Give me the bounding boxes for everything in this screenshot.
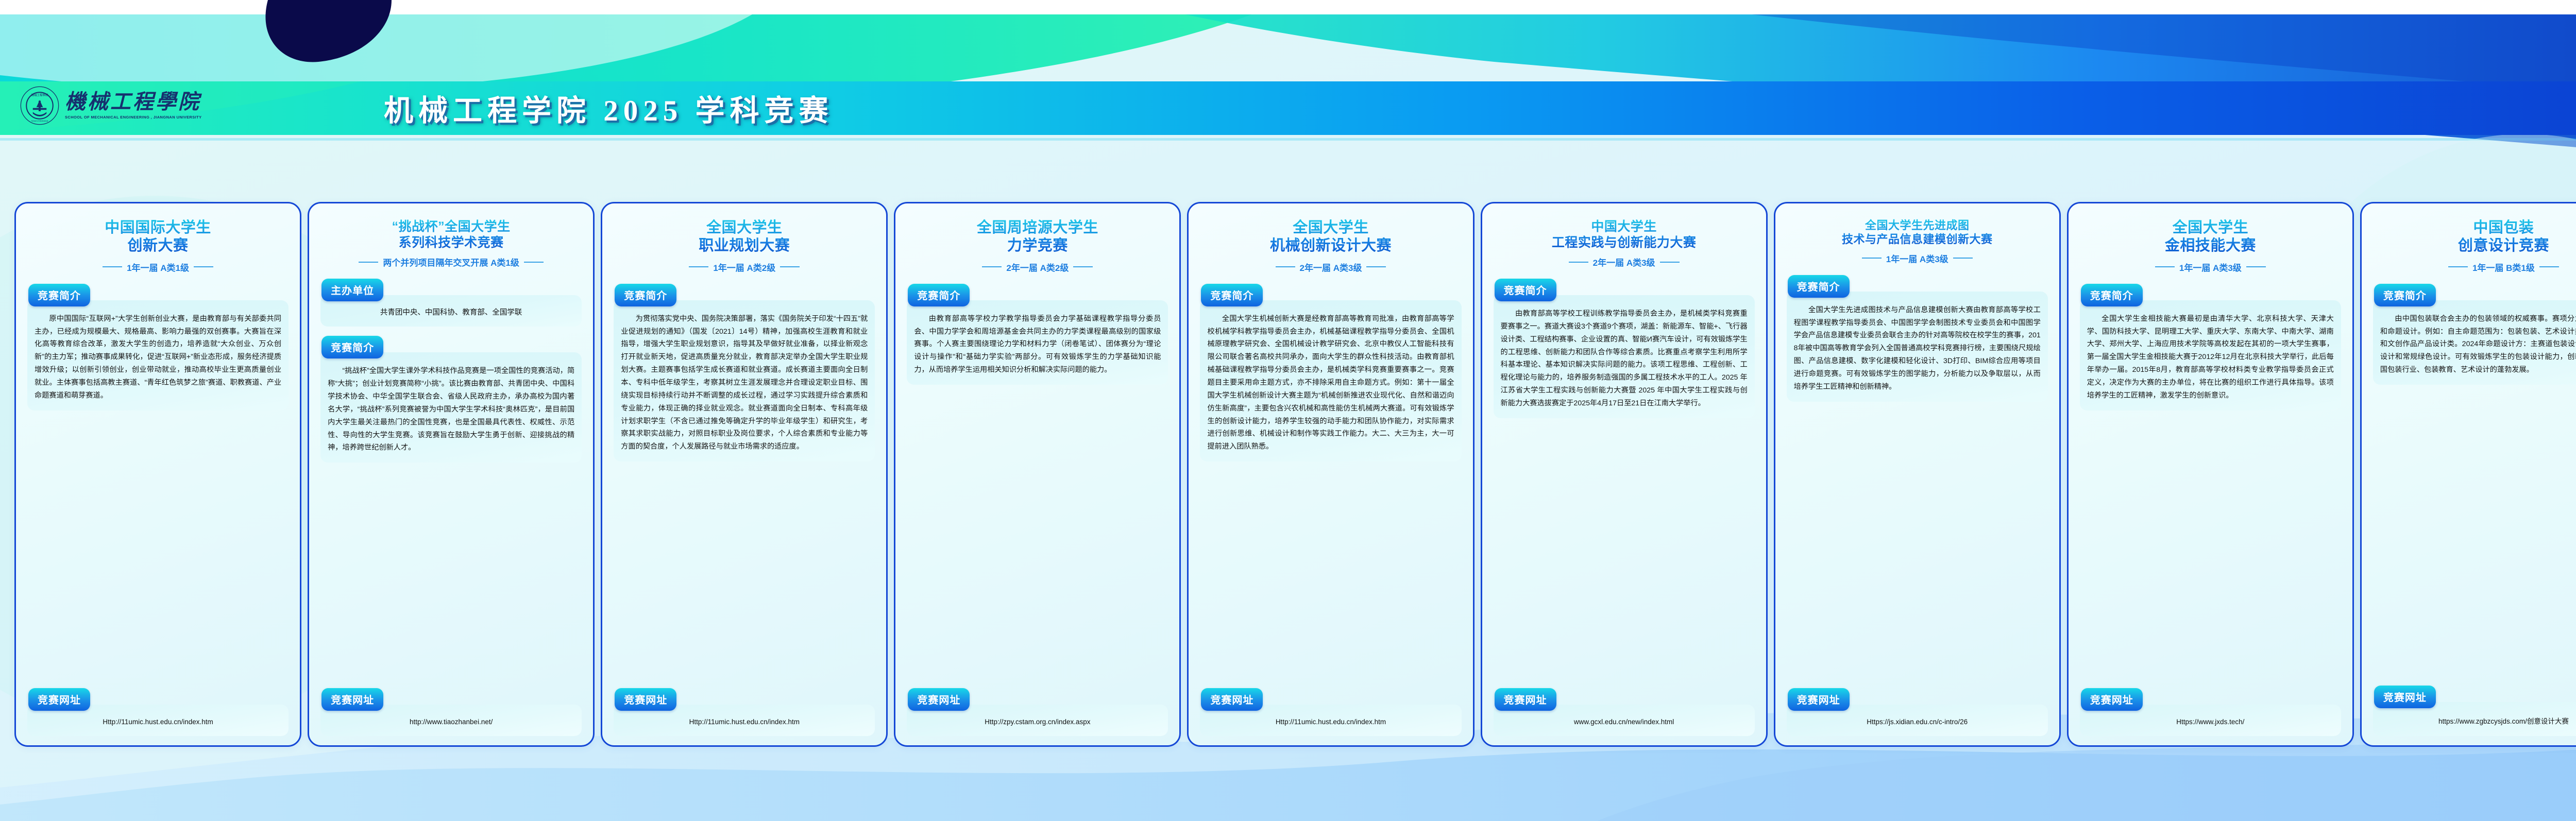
- meta-rule-right: [194, 266, 213, 267]
- meta-rule-left: [1862, 258, 1882, 259]
- competition-name: 全国大学生职业规划大赛: [614, 219, 875, 255]
- meta-rule-right: [780, 266, 800, 267]
- competition-card-list: 中国国际大学生创新大赛1年一届 A类1级竞赛简介原中国国际“互联网+”大学生创新…: [0, 202, 2576, 747]
- competition-card[interactable]: 中国国际大学生创新大赛1年一届 A类1级竞赛简介原中国国际“互联网+”大学生创新…: [14, 202, 301, 747]
- card-spacer: [907, 385, 1168, 688]
- intro-label: 竞赛简介: [321, 336, 383, 358]
- competition-name: 中国国际大学生创新大赛: [27, 219, 289, 255]
- logo-english-name: SCHOOL OF MECHANICAL ENGINEERING , JIANG…: [65, 115, 202, 119]
- intro-text: 由教育部高等学校力学教学指导委员会力学基础课程教学指导分委员会、中国力学学会和周…: [907, 300, 1168, 385]
- intro-label: 竞赛简介: [1495, 279, 1556, 301]
- competition-card[interactable]: 中国包装创意设计竞赛1年一届 B类1级竞赛简介由中国包装联合会主办的包装领域的权…: [2360, 202, 2576, 747]
- url-block: 竞赛网址http://www.tiaozhanbei.net/: [320, 688, 582, 736]
- host-label: 主办单位: [321, 279, 383, 301]
- card-spacer: [1787, 402, 2048, 688]
- intro-text: “挑战杯”全国大学生课外学术科技作品竞赛是一项全国性的竞赛活动，简称“大挑”；创…: [320, 352, 582, 463]
- url-block: 竞赛网址https://www.zgbzcysjds.com/创意设计大赛: [2373, 686, 2576, 736]
- competition-name: 中国包装创意设计竞赛: [2373, 219, 2576, 255]
- intro-label: 竞赛简介: [2374, 284, 2436, 306]
- intro-label: 竞赛简介: [28, 284, 90, 306]
- url-label: 竞赛网址: [321, 688, 383, 711]
- intro-text: 全国大学生先进成图技术与产品信息建模创新大赛由教育部高等学校工程图学课程教学指导…: [1787, 292, 2048, 402]
- meta-text: 1年一届 A类2级: [713, 261, 775, 273]
- competition-meta: 1年一届 B类1级: [2373, 261, 2576, 273]
- card-spacer: [27, 410, 289, 688]
- meta-rule-left: [689, 266, 708, 267]
- competition-card[interactable]: 全国大学生机械创新设计大赛2年一届 A类3级竞赛简介全国大学生机械创新大赛是经教…: [1187, 202, 1474, 747]
- url-block: 竞赛网址www.gcxl.edu.cn/new/index.html: [1494, 688, 1755, 736]
- university-emblem-icon: 機械工程學院 School of Mechanical: [20, 85, 60, 126]
- card-spacer: [2373, 385, 2576, 686]
- card-spacer: [614, 461, 875, 688]
- competition-card[interactable]: “挑战杯”全国大学生系列科技学术竞赛两个并列项目隔年交叉开展 A类1级主办单位共…: [308, 202, 595, 747]
- intro-text: 全国大学生金相技能大赛最初是由清华大学、北京科技大学、天津大学、国防科技大学、昆…: [2080, 300, 2341, 410]
- meta-rule-left: [2155, 266, 2175, 267]
- page-title: 机械工程学院 2025 学科竞赛: [384, 87, 834, 129]
- competition-name: 全国周培源大学生力学竞赛: [907, 219, 1168, 255]
- competition-card[interactable]: 全国周培源大学生力学竞赛2年一届 A类2级竞赛简介由教育部高等学校力学教学指导委…: [894, 202, 1181, 747]
- url-block: 竞赛网址Http://zpy.cstam.org.cn/index.aspx: [907, 688, 1168, 736]
- competition-meta: 2年一届 A类3级: [1494, 255, 1755, 268]
- meta-rule-left: [359, 262, 378, 263]
- meta-rule-right: [1660, 262, 1680, 263]
- competition-card[interactable]: 全国大学生先进成图技术与产品信息建模创新大赛1年一届 A类3级竞赛简介全国大学生…: [1774, 202, 2061, 747]
- intro-label: 竞赛简介: [615, 284, 676, 306]
- meta-rule-right: [2539, 266, 2559, 267]
- meta-text: 1年一届 B类1级: [2472, 261, 2535, 273]
- meta-text: 2年一届 A类3级: [1300, 261, 1362, 273]
- school-logo: 機械工程學院 School of Mechanical 機械工程學院 SCHOO…: [20, 85, 202, 126]
- intro-text: 全国大学生机械创新大赛是经教育部高等教育司批准，由教育部高等学校机械学科教学指导…: [1200, 300, 1461, 461]
- competition-meta: 1年一届 A类2级: [614, 261, 875, 273]
- svg-text:School of Mechanical: School of Mechanical: [31, 120, 48, 122]
- competition-name: “挑战杯”全国大学生系列科技学术竞赛: [320, 219, 582, 250]
- competition-name: 全国大学生先进成图技术与产品信息建模创新大赛: [1787, 219, 2048, 247]
- meta-text: 1年一届 A类1级: [127, 261, 189, 273]
- meta-text: 2年一届 A类3级: [1593, 255, 1655, 268]
- intro-label: 竞赛简介: [908, 284, 970, 306]
- competition-name: 全国大学生金相技能大赛: [2080, 219, 2341, 255]
- url-label: 竞赛网址: [908, 688, 970, 711]
- competition-card[interactable]: 中国大学生工程实践与创新能力大赛2年一届 A类3级竞赛简介由教育部高等学校工程训…: [1481, 202, 1768, 747]
- url-block: 竞赛网址Http://11umic.hust.edu.cn/index.htm: [27, 688, 289, 736]
- url-label: 竞赛网址: [1788, 688, 1850, 711]
- competition-name: 全国大学生机械创新设计大赛: [1200, 219, 1461, 255]
- card-spacer: [1494, 418, 1755, 688]
- meta-text: 1年一届 A类3级: [2179, 261, 2242, 273]
- intro-text: 为贯彻落实党中央、国务院决策部署，落实《国务院关于印发“十四五”就业促进规划的通…: [614, 300, 875, 461]
- intro-label: 竞赛简介: [1788, 275, 1850, 298]
- meta-rule-right: [2246, 266, 2266, 267]
- url-label: 竞赛网址: [2374, 686, 2436, 708]
- competition-meta: 1年一届 A类3级: [2080, 261, 2341, 273]
- url-label: 竞赛网址: [28, 688, 90, 711]
- competition-card[interactable]: 全国大学生金相技能大赛1年一届 A类3级竞赛简介全国大学生金相技能大赛最初是由清…: [2067, 202, 2354, 747]
- competition-meta: 2年一届 A类3级: [1200, 261, 1461, 273]
- meta-rule-left: [103, 266, 122, 267]
- intro-text: 由中国包装联合会主办的包装领域的权威赛事。赛项分为自主命题设计和命题设计。例如：…: [2373, 300, 2576, 385]
- url-label: 竞赛网址: [615, 688, 676, 711]
- url-block: 竞赛网址Http://11umic.hust.edu.cn/index.htm: [614, 688, 875, 736]
- card-spacer: [320, 463, 582, 688]
- url-block: 竞赛网址Http://11umic.hust.edu.cn/index.htm: [1200, 688, 1461, 736]
- meta-text: 2年一届 A类2级: [1006, 261, 1069, 273]
- card-spacer: [1200, 461, 1461, 688]
- meta-rule-left: [1276, 266, 1295, 267]
- meta-rule-left: [2448, 266, 2468, 267]
- meta-rule-right: [1073, 266, 1093, 267]
- meta-rule-left: [1569, 262, 1588, 263]
- meta-text: 两个并列项目隔年交叉开展 A类1级: [383, 255, 519, 268]
- url-label: 竞赛网址: [2081, 688, 2143, 711]
- url-block: 竞赛网址Https://www.jxds.tech/: [2080, 688, 2341, 736]
- competition-meta: 2年一届 A类2级: [907, 261, 1168, 273]
- url-label: 竞赛网址: [1201, 688, 1263, 711]
- competition-meta: 1年一届 A类1级: [27, 261, 289, 273]
- competition-name: 中国大学生工程实践与创新能力大赛: [1494, 219, 1755, 250]
- meta-rule-left: [982, 266, 1002, 267]
- intro-text: 由教育部高等学校工程训练教学指导委员会主办，是机械类学科竞赛重要赛事之一。赛道大…: [1494, 295, 1755, 418]
- logo-chinese-name: 機械工程學院: [65, 92, 202, 112]
- intro-text: 原中国国际“互联网+”大学生创新创业大赛，是由教育部与有关部委共同主办，已经成为…: [27, 300, 289, 410]
- intro-label: 竞赛简介: [1201, 284, 1263, 306]
- competition-card[interactable]: 全国大学生职业规划大赛1年一届 A类2级竞赛简介为贯彻落实党中央、国务院决策部署…: [601, 202, 888, 747]
- competition-meta: 1年一届 A类3级: [1787, 252, 2048, 265]
- card-spacer: [2080, 410, 2341, 688]
- page-banner: 機械工程學院 School of Mechanical 機械工程學院 SCHOO…: [0, 81, 2576, 135]
- intro-label: 竞赛简介: [2081, 284, 2143, 306]
- meta-text: 1年一届 A类3级: [1886, 252, 1948, 265]
- url-block: 竞赛网址Https://js.xidian.edu.cn/c-intro/26: [1787, 688, 2048, 736]
- meta-rule-right: [1366, 266, 1386, 267]
- url-label: 竞赛网址: [1495, 688, 1556, 711]
- meta-rule-right: [1953, 258, 1973, 259]
- meta-rule-right: [524, 262, 544, 263]
- competition-meta: 两个并列项目隔年交叉开展 A类1级: [320, 255, 582, 268]
